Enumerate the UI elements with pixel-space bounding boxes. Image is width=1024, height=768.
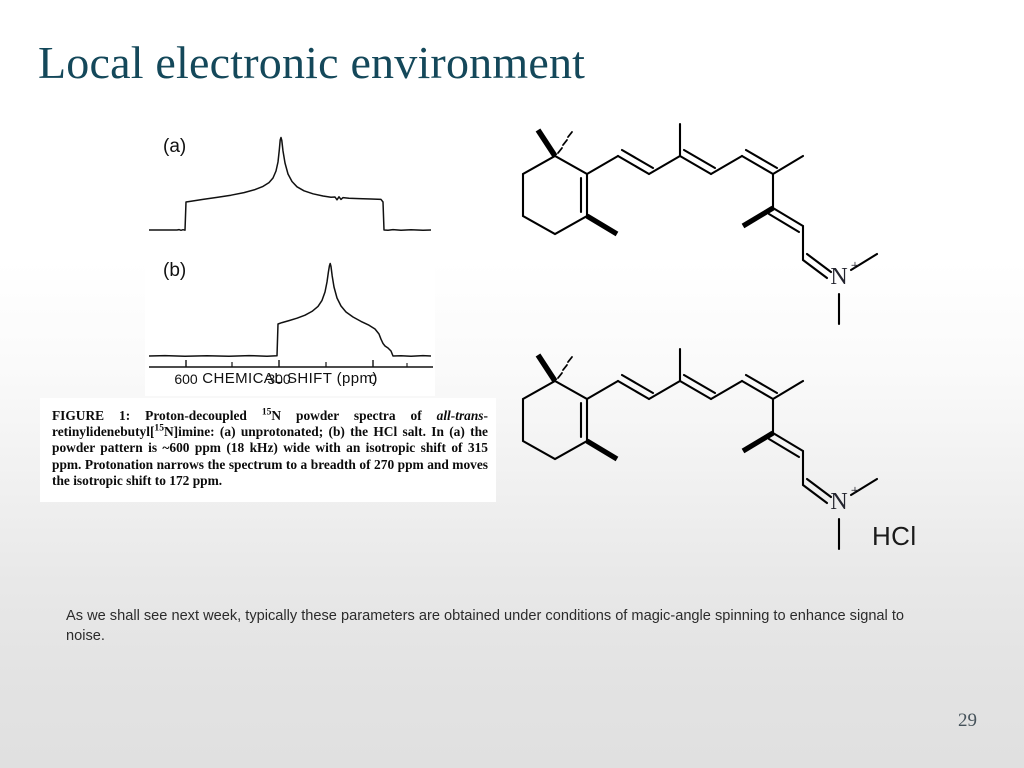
- nitrogen-charge-label-bottom: +: [851, 483, 859, 499]
- molecule-diagram-unprotonated: N +: [505, 112, 905, 337]
- retinylidene-structure-bottom: N +: [505, 337, 905, 562]
- panel-a-label: (a): [163, 136, 186, 157]
- nitrogen-charge-label-top: +: [851, 258, 859, 274]
- figure-block: (a) (b) 600 300 0: [40, 124, 496, 502]
- hcl-salt-label: HCl: [872, 521, 917, 552]
- molecule-bonds-top: [523, 124, 877, 324]
- body-text: As we shall see next week, typically the…: [66, 606, 928, 646]
- nmr-spectra-panel: (a) (b) 600 300 0: [145, 124, 435, 396]
- page-number: 29: [958, 710, 977, 732]
- figure-caption: FIGURE 1: Proton-decoupled 15N powder sp…: [52, 408, 488, 489]
- molecule-bonds-bottom: [523, 349, 877, 549]
- retinylidene-structure-top: N +: [505, 112, 905, 337]
- nitrogen-atom-label-top: N: [830, 264, 847, 290]
- slide-canvas: Local electronic environment (a) (b): [0, 0, 1024, 768]
- figure-caption-lead: FIGURE 1:: [52, 408, 130, 423]
- molecule-diagram-hcl-salt: N +: [505, 337, 905, 562]
- nitrogen-atom-label-bottom: N: [830, 489, 847, 515]
- figure-caption-sup-2: 15: [154, 423, 164, 434]
- panel-b-label: (b): [163, 260, 186, 281]
- nmr-spectra-chart: (a) (b) 600 300 0: [145, 124, 435, 396]
- figure-caption-italic-1: all-trans: [437, 408, 484, 423]
- figure-caption-text-2: N powder spectra of: [271, 408, 436, 423]
- figure-caption-text-1: Proton-decoupled: [130, 408, 262, 423]
- figure-caption-box: FIGURE 1: Proton-decoupled 15N powder sp…: [40, 398, 496, 502]
- spectra-background: [145, 124, 435, 396]
- figure-caption-sup-1: 15: [262, 407, 272, 418]
- page-title: Local electronic environment: [38, 36, 585, 90]
- chemical-shift-axis-title: CHEMICAL SHIFT (ppm): [145, 370, 435, 387]
